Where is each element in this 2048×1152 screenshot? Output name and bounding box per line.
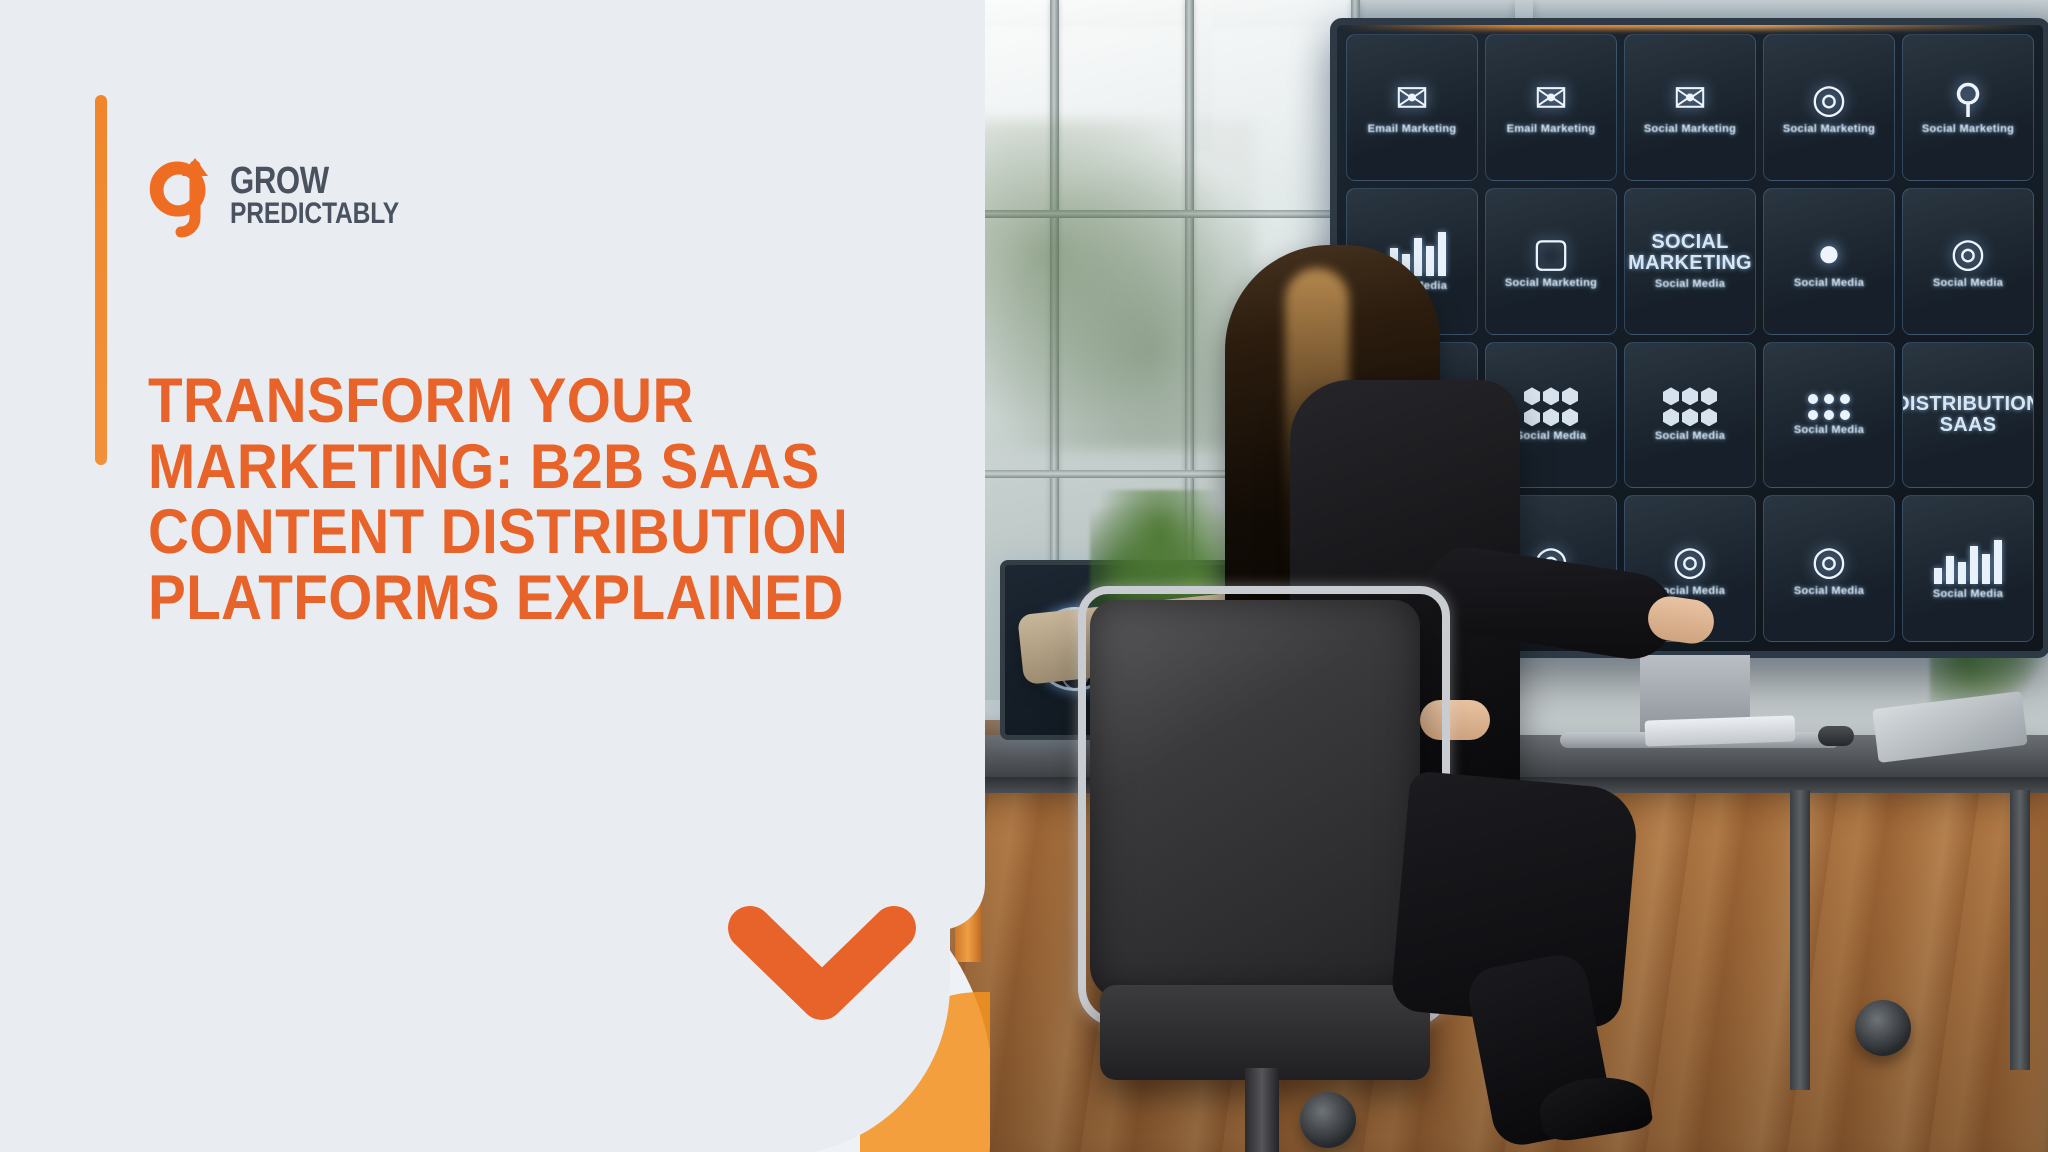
tile-icon: ▢ [1532, 233, 1570, 273]
tile-icon: ✉ [1673, 79, 1707, 119]
tile-icon: ◎ [1673, 541, 1708, 581]
screen-tile: Social Media [1902, 495, 2034, 642]
tile-caption: Social Media [1929, 588, 2007, 600]
hexagon-network-icon [1524, 387, 1578, 426]
screen-tile: DISTRIBUTION SAAS [1902, 342, 2034, 489]
page-title: TRANSFORM YOUR MARKETING: B2B SAAS CONTE… [148, 369, 708, 631]
desk-leg [2010, 790, 2030, 1070]
tile-icon: ◎ [1812, 79, 1847, 119]
tile-caption: Social Marketing [1779, 123, 1879, 135]
keyboard [1645, 715, 1796, 746]
tile-caption: Social Media [1651, 278, 1729, 290]
chair-post [1245, 1068, 1279, 1152]
window-greenery [955, 120, 1255, 450]
hexagon-network-icon [1663, 387, 1717, 426]
grow-predictably-g-arrow-logo [148, 150, 222, 242]
chevron-down-icon[interactable] [722, 898, 922, 1030]
logo-text-line2: PREDICTABLY [230, 200, 399, 228]
tile-headline: DISTRIBUTION SAAS [1902, 394, 2034, 436]
chair-wheel [1855, 1000, 1911, 1056]
tile-caption: Social Media [1512, 430, 1590, 442]
tile-caption: Social Media [1651, 430, 1729, 442]
chair-wheel [1300, 1092, 1356, 1148]
tile-icon: ◎ [1951, 233, 1986, 273]
brand-logo[interactable]: GROW PREDICTABLY [148, 150, 436, 242]
tile-icon: ✉ [1395, 79, 1429, 119]
tile-caption: Social Media [1790, 585, 1868, 597]
screen-tile: ✉Email Marketing [1485, 34, 1617, 181]
desk-leg [1790, 790, 1810, 1090]
tile-icon: ● [1817, 233, 1841, 273]
tile-caption: Social Marketing [1918, 123, 2018, 135]
orange-accent-bar [95, 95, 107, 465]
screen-tile: ◎Social Marketing [1763, 34, 1895, 181]
tile-icon: ✉ [1534, 79, 1568, 119]
headline-line-3: CONTENT DISTRIBUTION [148, 500, 652, 566]
screen-tile: Social Media [1763, 342, 1895, 489]
tile-caption: Social Media [1929, 277, 2007, 289]
tile-caption: Email Marketing [1364, 123, 1461, 135]
dot-grid-icon [1808, 394, 1850, 420]
logo-text-line1: GROW [230, 164, 399, 199]
tile-caption: Email Marketing [1503, 123, 1600, 135]
screen-tile: ◎Social Media [1763, 495, 1895, 642]
screen-tile: ⚲Social Marketing [1902, 34, 2034, 181]
bar-chart-icon [1934, 538, 2002, 584]
tile-caption: Social Marketing [1640, 123, 1740, 135]
screen-tile: SOCIAL MARKETINGSocial Media [1624, 188, 1756, 335]
tile-icon: ⚲ [1953, 79, 1982, 119]
tile-caption: Social Marketing [1501, 277, 1601, 289]
screen-tile: ▢Social Marketing [1485, 188, 1617, 335]
screen-tile: ◎Social Media [1902, 188, 2034, 335]
screen-tile: Social Media [1624, 342, 1756, 489]
screen-tile: ✉Social Marketing [1624, 34, 1756, 181]
content-card-tail [0, 930, 620, 1152]
tile-caption: Social Media [1790, 424, 1868, 436]
tile-headline: SOCIAL MARKETING [1624, 232, 1756, 274]
headline-line-2: MARKETING: B2B SAAS [148, 435, 652, 501]
screen-tile: ✉Email Marketing [1346, 34, 1478, 181]
mouse [1818, 726, 1854, 746]
headline-line-4: PLATFORMS EXPLAINED [148, 566, 652, 632]
screen-tile: ●Social Media [1763, 188, 1895, 335]
hero-banner: ✉Email Marketing✉Email Marketing✉Social … [0, 0, 2048, 1152]
office-chair-seat [1100, 985, 1430, 1080]
tile-icon: ◎ [1812, 541, 1847, 581]
tile-caption: Social Media [1790, 277, 1868, 289]
headline-line-1: TRANSFORM YOUR [148, 369, 652, 435]
